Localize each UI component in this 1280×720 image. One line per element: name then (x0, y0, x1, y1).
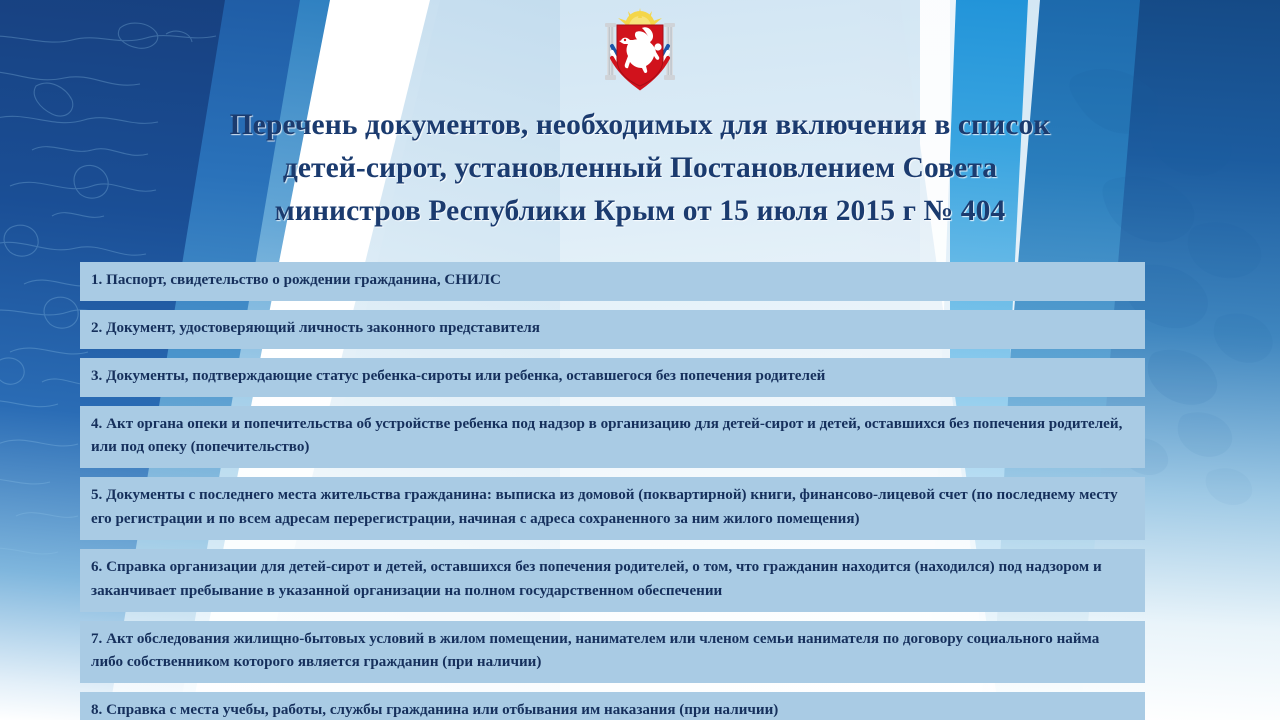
list-item: 5. Документы с последнего места жительст… (80, 477, 1145, 540)
list-item: 6. Справка организации для детей-сирот и… (80, 549, 1145, 612)
title-line-1: Перечень документов, необходимых для вкл… (78, 104, 1202, 147)
coat-of-arms-svg (592, 6, 688, 98)
list-item: 2. Документ, удостоверяющий личность зак… (80, 310, 1145, 349)
list-item: 4. Акт органа опеки и попечительства об … (80, 406, 1145, 469)
slide-root: Перечень документов, необходимых для вкл… (0, 0, 1280, 720)
title-line-2: детей-сирот, установленный Постановление… (78, 147, 1202, 190)
crimea-coat-of-arms-icon (592, 6, 688, 98)
page-title: Перечень документов, необходимых для вкл… (78, 104, 1202, 233)
document-list: 1. Паспорт, свидетельство о рождении гра… (80, 262, 1145, 720)
list-item: 7. Акт обследования жилищно-бытовых усло… (80, 621, 1145, 684)
list-item: 1. Паспорт, свидетельство о рождении гра… (80, 262, 1145, 301)
list-item: 3. Документы, подтверждающие статус ребе… (80, 358, 1145, 397)
list-item: 8. Справка с места учебы, работы, службы… (80, 692, 1145, 720)
title-line-3: министров Республики Крым от 15 июля 201… (78, 190, 1202, 233)
